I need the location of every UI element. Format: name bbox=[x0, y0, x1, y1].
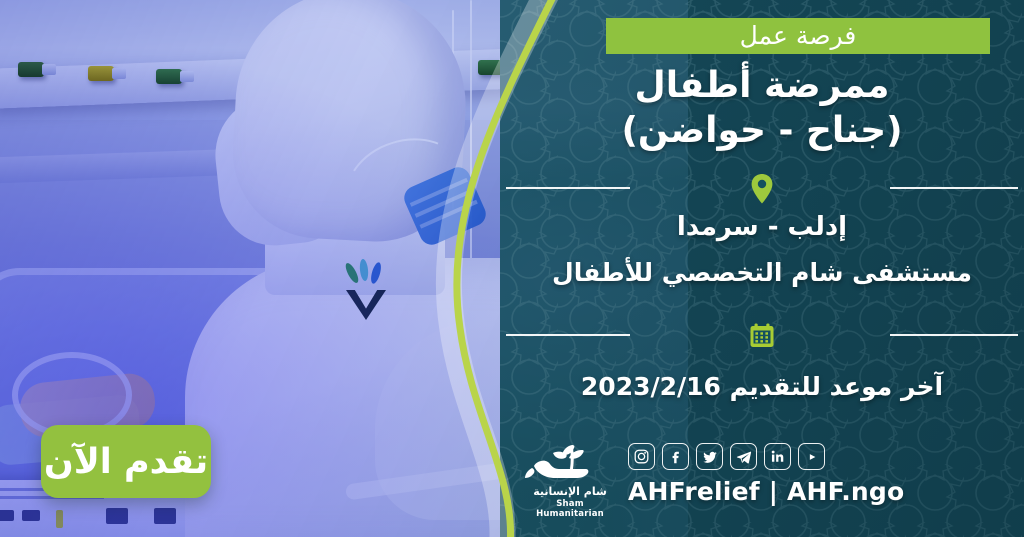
linkedin-icon[interactable] bbox=[764, 443, 791, 470]
vacancy-badge: فرصة عمل bbox=[606, 18, 990, 54]
location-divider bbox=[500, 176, 1024, 200]
apply-now-button[interactable]: تقدم الآن bbox=[41, 425, 211, 498]
job-title: ممرضة أطفال (جناح - حواضن) bbox=[500, 64, 1024, 153]
twitter-icon[interactable] bbox=[696, 443, 723, 470]
brand-footer: شام الإنسانية Sham Humanitarian bbox=[500, 439, 1024, 515]
deadline-divider bbox=[500, 323, 1024, 347]
panel-content: فرصة عمل ممرضة أطفال (جناح - حواضن) إدلب… bbox=[500, 0, 1024, 537]
job-location: إدلب - سرمدا bbox=[500, 212, 1024, 242]
telegram-icon[interactable] bbox=[730, 443, 757, 470]
instagram-icon[interactable] bbox=[628, 443, 655, 470]
divider-line-left bbox=[506, 334, 630, 336]
youtube-icon[interactable] bbox=[798, 443, 825, 470]
application-deadline: آخر موعد للتقديم 2023/2/16 bbox=[500, 372, 1024, 401]
divider-line-left bbox=[506, 187, 630, 189]
location-pin-icon bbox=[745, 172, 779, 206]
organization-logo: شام الإنسانية Sham Humanitarian bbox=[522, 441, 618, 515]
social-handles: AHFrelief | AHF.ngo bbox=[628, 477, 904, 506]
job-title-line-2: (جناح - حواضن) bbox=[500, 109, 1024, 154]
divider-line-right bbox=[890, 187, 1018, 189]
hospital-name: مستشفى شام التخصصي للأطفال bbox=[500, 258, 1024, 287]
facebook-icon[interactable] bbox=[662, 443, 689, 470]
logo-english-name: Sham Humanitarian bbox=[522, 499, 618, 519]
job-title-line-1: ممرضة أطفال bbox=[635, 65, 890, 106]
social-links[interactable] bbox=[628, 443, 825, 470]
divider-line-right bbox=[890, 334, 1018, 336]
job-vacancy-banner: فرصة عمل ممرضة أطفال (جناح - حواضن) إدلب… bbox=[0, 0, 1024, 537]
calendar-icon bbox=[745, 319, 779, 353]
logo-arabic-name: شام الإنسانية bbox=[522, 485, 618, 498]
